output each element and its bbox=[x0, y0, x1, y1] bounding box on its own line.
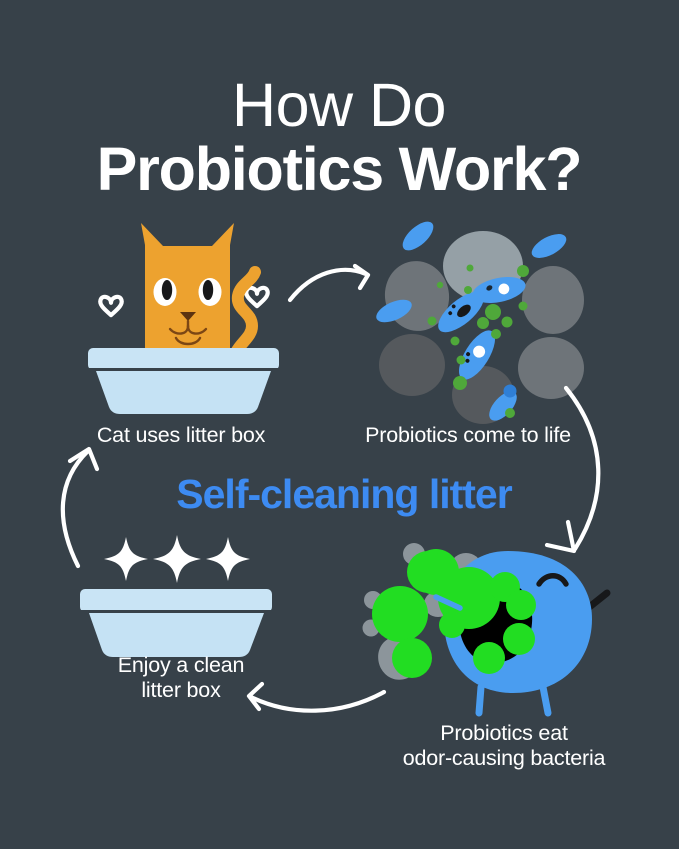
caption-probiotics-eat-line-2: odor-causing bacteria bbox=[403, 746, 606, 770]
title-line-2: Probiotics Work? bbox=[97, 135, 582, 203]
caption-enjoy-clean-line-2: litter box bbox=[141, 678, 221, 702]
infographic-illustration: How Do Probiotics Work? bbox=[0, 0, 679, 849]
caption-cat-uses-litter-box: Cat uses litter box bbox=[97, 423, 266, 447]
caption-probiotics-come-to-life: Probiotics come to life bbox=[365, 423, 571, 447]
caption-enjoy-clean-line-1: Enjoy a clean bbox=[118, 653, 244, 677]
center-headline: Self-cleaning litter bbox=[176, 471, 512, 517]
litter-box-full bbox=[88, 348, 279, 414]
caption-probiotics-eat-line-1: Probiotics eat bbox=[440, 721, 568, 745]
title-line-1: How Do bbox=[232, 71, 446, 139]
litter-box-empty bbox=[80, 589, 272, 657]
infographic-canvas: How Do Probiotics Work? bbox=[0, 0, 679, 849]
